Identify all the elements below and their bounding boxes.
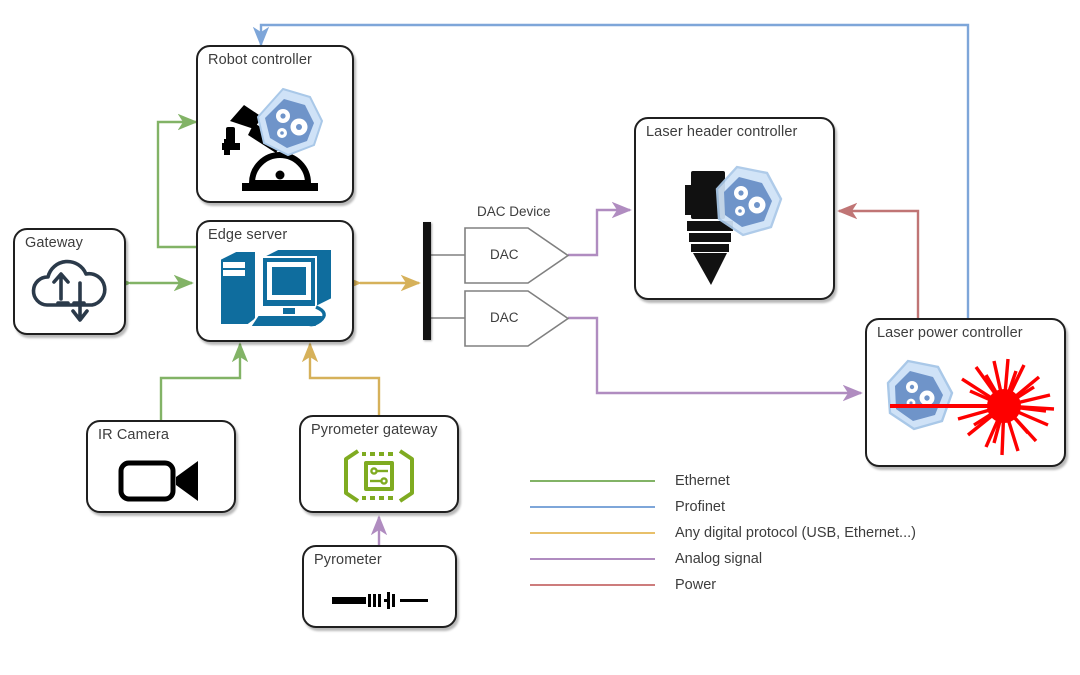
dac-device-group [431, 228, 568, 346]
node-gateway-label: Gateway [25, 235, 83, 251]
node-edge-server[interactable]: Edge server [196, 220, 354, 342]
legend-item-analog: Analog signal [530, 546, 916, 572]
conn-analog-dac1-to-laser-header [568, 210, 630, 255]
diagram-canvas: DAC Device DAC DAC Robot controller [0, 0, 1080, 675]
dac-channel-2-label: DAC [490, 310, 519, 325]
legend-item-ethernet: Ethernet [530, 468, 916, 494]
node-pyrometer-gateway[interactable]: Pyrometer gateway [299, 415, 459, 513]
legend-swatch-analog [530, 558, 655, 560]
node-pyrometer-label: Pyrometer [314, 552, 382, 568]
field-bus-bar [423, 222, 431, 340]
legend-item-profinet: Profinet [530, 494, 916, 520]
node-robot-controller-label: Robot controller [208, 52, 312, 68]
laser-head-gear-icon [636, 154, 833, 294]
legend: Ethernet Profinet Any digital protocol (… [530, 468, 916, 598]
laser-burst-gear-icon [867, 349, 1064, 461]
conn-power-laser-power-to-header [839, 211, 918, 318]
dac-device-title: DAC Device [477, 204, 551, 219]
legend-label-profinet: Profinet [675, 499, 725, 515]
legend-label-power: Power [675, 577, 716, 593]
legend-label-digital: Any digital protocol (USB, Ethernet...) [675, 525, 916, 541]
robot-arm-gear-icon [198, 81, 352, 197]
server-workstation-icon [198, 244, 352, 336]
legend-item-digital: Any digital protocol (USB, Ethernet...) [530, 520, 916, 546]
conn-profinet-laser-power-to-robot [261, 25, 968, 318]
legend-swatch-profinet [530, 506, 655, 508]
legend-swatch-digital [530, 532, 655, 534]
conn-ethernet-ir-camera-to-edge [161, 344, 240, 420]
legend-item-power: Power [530, 572, 916, 598]
gateway-device-icon [301, 445, 457, 507]
legend-swatch-power [530, 584, 655, 586]
legend-label-analog: Analog signal [675, 551, 762, 567]
conn-digital-pyrometer-gateway-to-edge [310, 344, 379, 415]
sensor-probe-icon [304, 580, 455, 622]
node-laser-header-controller-label: Laser header controller [646, 124, 797, 140]
conn-ethernet-edge-to-robot [158, 122, 196, 247]
video-camera-icon [88, 451, 234, 507]
node-edge-server-label: Edge server [208, 227, 287, 243]
conn-analog-dac2-to-laser-power [568, 318, 861, 393]
node-gateway[interactable]: Gateway [13, 228, 126, 335]
node-ir-camera[interactable]: IR Camera [86, 420, 236, 513]
node-laser-power-controller-label: Laser power controller [877, 325, 1023, 341]
node-pyrometer[interactable]: Pyrometer [302, 545, 457, 628]
legend-label-ethernet: Ethernet [675, 473, 730, 489]
node-laser-header-controller[interactable]: Laser header controller [634, 117, 835, 300]
cloud-updown-icon [15, 251, 124, 329]
node-pyrometer-gateway-label: Pyrometer gateway [311, 422, 438, 438]
node-ir-camera-label: IR Camera [98, 427, 169, 443]
node-laser-power-controller[interactable]: Laser power controller [865, 318, 1066, 467]
node-robot-controller[interactable]: Robot controller [196, 45, 354, 203]
dac-channel-1-label: DAC [490, 247, 519, 262]
legend-swatch-ethernet [530, 480, 655, 482]
